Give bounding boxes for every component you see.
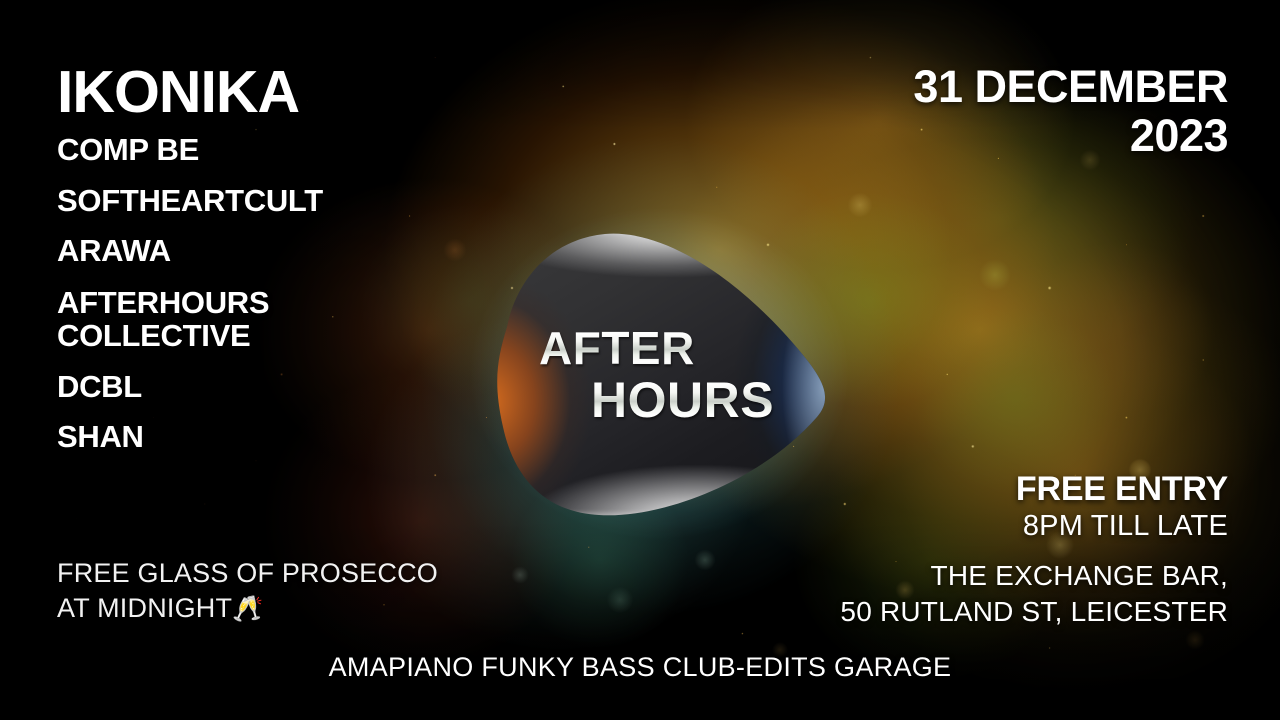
clinking-glasses-emoji: 🥂 [232,595,263,623]
prosecco-offer-line-2-text: AT MIDNIGHT [57,593,232,623]
logo-line-after: AFTER [487,326,832,371]
logo-wordmark: AFTER HOURS [487,231,832,516]
lineup-item-7: SHAN [57,421,457,454]
event-flyer: AFTER HOURS IKONIKA COMP BE SOFTHEARTCUL… [0,0,1280,720]
entry-hours: 8PM TILL LATE [1016,510,1228,543]
lineup-list: IKONIKA COMP BE SOFTHEARTCULT ARAWA AFTE… [57,62,457,454]
lineup-item-3: SOFTHEARTCULT [57,185,457,218]
lineup-item-4: ARAWA [57,235,457,268]
logo-line-hours: HOURS [487,376,832,425]
venue-name: THE EXCHANGE BAR, [840,558,1228,594]
prosecco-offer-line-2: AT MIDNIGHT🥂 [57,591,477,626]
venue-street: 50 RUTLAND ST, LEICESTER [840,594,1228,630]
lineup-item-5: AFTERHOURS COLLECTIVE [57,286,457,353]
event-date-line-1: 31 DECEMBER [913,63,1228,112]
entry-price: FREE ENTRY [1016,470,1228,509]
prosecco-offer: FREE GLASS OF PROSECCO AT MIDNIGHT🥂 [57,556,477,626]
lineup-item-5-line-2: COLLECTIVE [57,319,457,352]
lineup-item-headliner: IKONIKA [57,62,457,122]
lineup-item-2: COMP BE [57,134,457,167]
lineup-item-5-line-1: AFTERHOURS [57,286,457,319]
afterhours-logo: AFTER HOURS [487,231,832,516]
lineup-item-6: DCBL [57,371,457,404]
event-date-line-2: 2023 [913,112,1228,161]
entry-info: FREE ENTRY 8PM TILL LATE [1016,470,1228,543]
genre-list: AMAPIANO FUNKY BASS CLUB-EDITS GARAGE [0,652,1280,683]
prosecco-offer-line-1: FREE GLASS OF PROSECCO [57,556,477,591]
event-date: 31 DECEMBER 2023 [913,63,1228,160]
venue-address: THE EXCHANGE BAR, 50 RUTLAND ST, LEICEST… [840,558,1228,630]
